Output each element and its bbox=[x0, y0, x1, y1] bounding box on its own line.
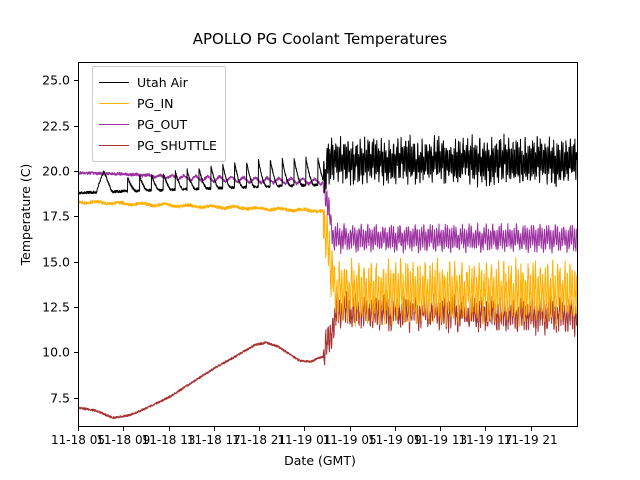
legend-swatch-pg-shuttle bbox=[99, 145, 129, 146]
x-tick-mark bbox=[304, 427, 305, 431]
y-axis-label: Temperature (C) bbox=[18, 32, 33, 397]
y-tick-label: 12.5 bbox=[42, 300, 70, 315]
chart-title: APOLLO PG Coolant Temperatures bbox=[0, 30, 640, 48]
x-tick-label: 11-19 21 bbox=[504, 433, 558, 447]
legend-item: Utah Air bbox=[99, 72, 217, 93]
legend-item: PG_OUT bbox=[99, 114, 217, 135]
legend-item: PG_SHUTTLE bbox=[99, 135, 217, 156]
legend-item: PG_IN bbox=[99, 93, 217, 114]
legend-label-pg-out: PG_OUT bbox=[137, 117, 187, 132]
x-tick-mark bbox=[395, 427, 396, 431]
x-axis-label: Date (GMT) bbox=[0, 453, 640, 468]
y-tick-label: 25.0 bbox=[42, 73, 70, 88]
y-tick-label: 22.5 bbox=[42, 118, 70, 133]
x-tick-mark bbox=[123, 427, 124, 431]
y-tick-label: 15.0 bbox=[42, 254, 70, 269]
y-axis-tick-labels: 7.510.012.515.017.520.022.525.0 bbox=[0, 62, 70, 427]
y-tick-label: 7.5 bbox=[50, 390, 70, 405]
legend-label-pg-in: PG_IN bbox=[137, 96, 174, 111]
y-tick-label: 20.0 bbox=[42, 163, 70, 178]
x-tick-mark bbox=[214, 427, 215, 431]
x-tick-mark bbox=[169, 427, 170, 431]
y-tick-label: 17.5 bbox=[42, 209, 70, 224]
legend-label-pg-shuttle: PG_SHUTTLE bbox=[137, 138, 217, 153]
x-tick-mark bbox=[485, 427, 486, 431]
legend-swatch-pg-in bbox=[99, 103, 129, 104]
chart-legend: Utah Air PG_IN PG_OUT PG_SHUTTLE bbox=[92, 66, 226, 162]
x-tick-mark bbox=[350, 427, 351, 431]
y-tick-label: 10.0 bbox=[42, 345, 70, 360]
legend-swatch-pg-out bbox=[99, 124, 129, 125]
legend-swatch-utah-air bbox=[99, 82, 129, 83]
x-tick-mark bbox=[531, 427, 532, 431]
x-tick-mark bbox=[440, 427, 441, 431]
x-tick-mark bbox=[78, 427, 79, 431]
legend-label-utah-air: Utah Air bbox=[137, 75, 188, 90]
x-tick-mark bbox=[259, 427, 260, 431]
chart-figure: APOLLO PG Coolant Temperatures 7.510.012… bbox=[0, 0, 640, 480]
